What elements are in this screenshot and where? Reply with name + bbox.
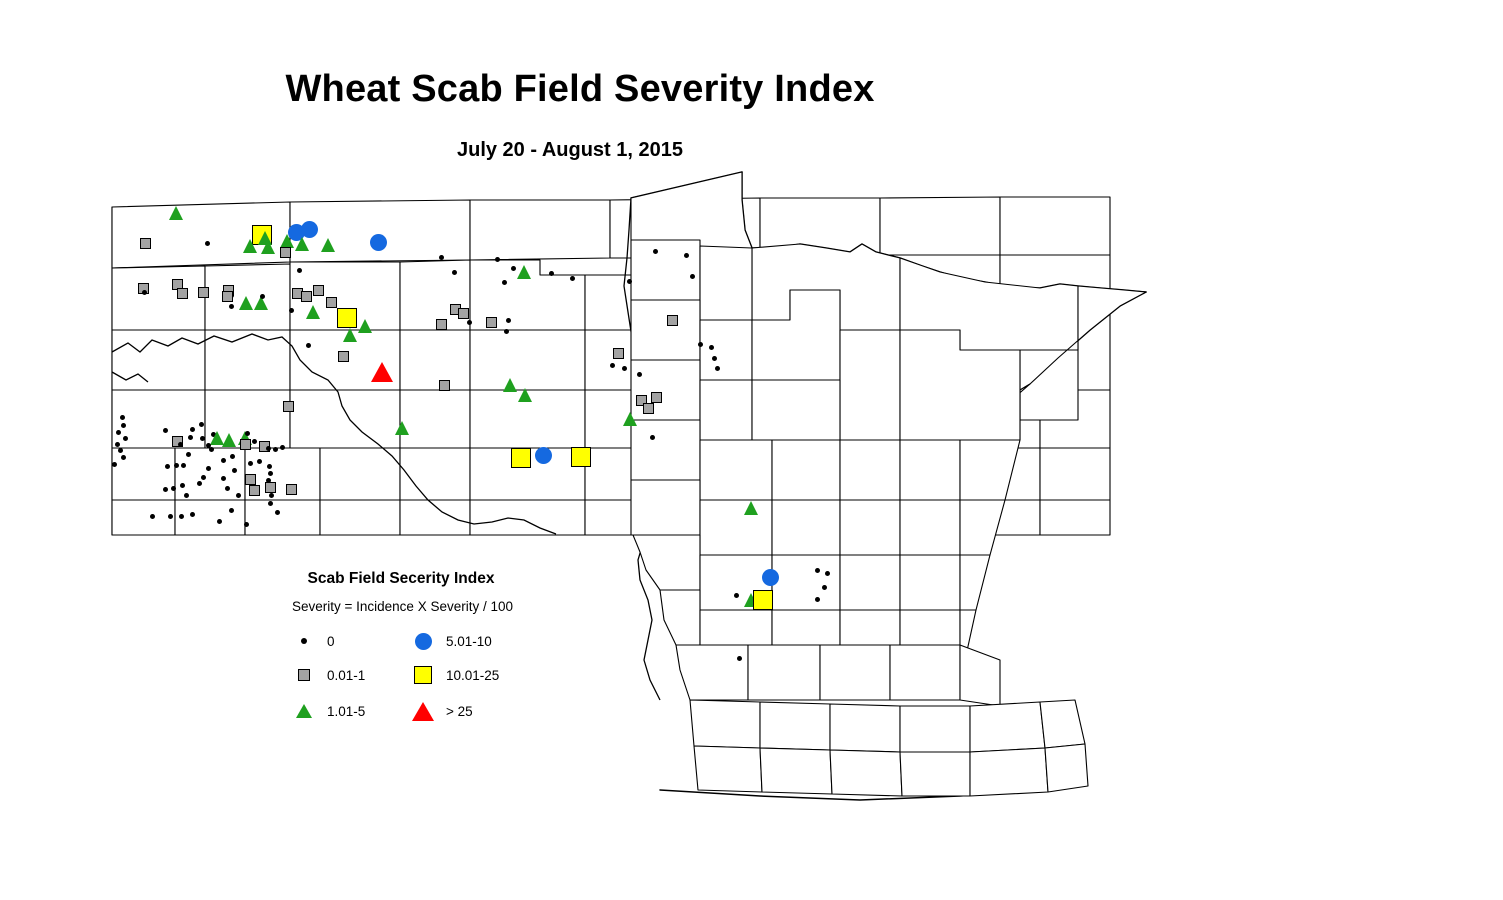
severity-point-square-large: [753, 590, 773, 610]
severity-point-dot: [184, 493, 189, 498]
severity-point-dot: [506, 318, 511, 323]
severity-point-triangle: [395, 421, 409, 435]
severity-point-dot: [115, 442, 120, 447]
severity-point-dot: [822, 585, 827, 590]
severity-point-triangle: [306, 305, 320, 319]
severity-point-dot: [504, 329, 509, 334]
severity-point-square: [265, 482, 276, 493]
legend-entry-3: 5.01-10: [410, 628, 492, 654]
severity-point-dot: [257, 459, 262, 464]
severity-point-dot: [275, 510, 280, 515]
severity-point-dot: [206, 466, 211, 471]
severity-point-triangle: [503, 378, 517, 392]
severity-point-dot: [260, 294, 265, 299]
severity-point-dot: [289, 308, 294, 313]
legend-label-0: 0: [327, 634, 335, 649]
severity-point-triangle: [169, 206, 183, 220]
severity-point-dot: [217, 519, 222, 524]
severity-point-dot: [188, 435, 193, 440]
legend: Scab Field Secerity Index Severity = Inc…: [285, 570, 525, 725]
severity-point-triangle: [258, 231, 272, 245]
legend-entry-2: 1.01-5: [291, 698, 365, 724]
severity-point-triangle: [623, 412, 637, 426]
severity-point-dot: [236, 493, 241, 498]
severity-point-triangle: [343, 328, 357, 342]
severity-point-square: [198, 287, 209, 298]
severity-point-dot: [201, 475, 206, 480]
severity-point-dot: [712, 356, 717, 361]
severity-point-square: [439, 380, 450, 391]
severity-point-dot: [174, 463, 179, 468]
severity-point-triangle: [239, 296, 253, 310]
severity-point-dot: [221, 476, 226, 481]
severity-point-square: [651, 392, 662, 403]
severity-point-dot: [610, 363, 615, 368]
severity-point-dot: [232, 468, 237, 473]
severity-point-dot: [165, 464, 170, 469]
severity-point-dot: [163, 428, 168, 433]
severity-point-dot: [684, 253, 689, 258]
severity-point-dot: [197, 481, 202, 486]
severity-point-dot: [268, 501, 273, 506]
severity-point-triangle: [295, 237, 309, 251]
severity-point-dot: [627, 279, 632, 284]
severity-point-dot: [815, 597, 820, 602]
severity-point-dot: [199, 422, 204, 427]
severity-point-dot: [181, 463, 186, 468]
severity-point-square: [222, 291, 233, 302]
severity-point-dot: [715, 366, 720, 371]
severity-point-square-large: [511, 448, 531, 468]
severity-point-dot: [734, 593, 739, 598]
severity-point-square: [301, 291, 312, 302]
severity-point-dot: [121, 423, 126, 428]
severity-point-square-large: [337, 308, 357, 328]
severity-point-square: [326, 297, 337, 308]
map-figure: Wheat Scab Field Severity Index July 20 …: [0, 0, 1503, 900]
severity-point-dot: [268, 471, 273, 476]
severity-point-square: [667, 315, 678, 326]
severity-point-dot: [439, 255, 444, 260]
severity-point-square: [245, 474, 256, 485]
severity-point-dot: [123, 436, 128, 441]
severity-point-circle: [370, 234, 387, 251]
severity-point-dot: [452, 270, 457, 275]
legend-label-5: > 25: [446, 704, 473, 719]
severity-point-dot: [180, 483, 185, 488]
severity-point-dot: [179, 514, 184, 519]
severity-point-dot: [150, 514, 155, 519]
severity-point-triangle: [321, 238, 335, 252]
severity-point-dot: [467, 320, 472, 325]
severity-point-triangle-lg: [371, 362, 393, 382]
severity-point-triangle: [744, 501, 758, 515]
severity-point-dot: [269, 493, 274, 498]
map-canvas: [0, 0, 1503, 900]
severity-point-dot: [549, 271, 554, 276]
states-map-svg: [0, 0, 1503, 900]
severity-point-dot: [653, 249, 658, 254]
severity-point-triangle: [222, 433, 236, 447]
severity-point-square: [458, 308, 469, 319]
severity-point-dot: [815, 568, 820, 573]
severity-point-dot: [502, 280, 507, 285]
severity-point-dot: [825, 571, 830, 576]
legend-formula: Severity = Incidence X Severity / 100: [285, 599, 520, 614]
severity-point-square: [177, 288, 188, 299]
severity-point-dot: [698, 342, 703, 347]
severity-point-dot: [637, 372, 642, 377]
legend-entry-0: 0: [291, 628, 335, 654]
severity-point-dot: [570, 276, 575, 281]
gray-square-marker-icon: [291, 669, 317, 681]
severity-point-dot: [244, 522, 249, 527]
legend-entry-5: > 25: [410, 698, 473, 724]
severity-point-dot: [495, 257, 500, 262]
severity-point-dot: [266, 446, 271, 451]
severity-point-dot: [221, 458, 226, 463]
severity-point-dot: [142, 290, 147, 295]
severity-point-dot: [511, 266, 516, 271]
severity-point-square: [338, 351, 349, 362]
severity-point-dot: [273, 447, 278, 452]
severity-point-dot: [650, 435, 655, 440]
yellow-square-marker-icon: [410, 666, 436, 684]
severity-point-dot: [252, 439, 257, 444]
severity-point-square: [643, 403, 654, 414]
severity-point-square-large: [571, 447, 591, 467]
severity-point-dot: [737, 656, 742, 661]
severity-point-dot: [280, 445, 285, 450]
severity-point-dot: [306, 343, 311, 348]
legend-label-3: 5.01-10: [446, 634, 492, 649]
severity-point-triangle: [243, 239, 257, 253]
severity-point-dot: [225, 486, 230, 491]
blue-circle-marker-icon: [410, 633, 436, 650]
severity-point-dot: [200, 436, 205, 441]
legend-label-4: 10.01-25: [446, 668, 499, 683]
severity-point-dot: [168, 514, 173, 519]
legend-title: Scab Field Secerity Index: [285, 570, 517, 588]
severity-point-dot: [163, 487, 168, 492]
severity-point-circle: [762, 569, 779, 586]
legend-label-2: 1.01-5: [327, 704, 365, 719]
severity-point-dot: [118, 448, 123, 453]
severity-point-triangle: [518, 388, 532, 402]
severity-point-dot: [186, 452, 191, 457]
severity-point-dot: [171, 486, 176, 491]
severity-point-dot: [116, 430, 121, 435]
severity-point-dot: [205, 241, 210, 246]
severity-point-dot: [267, 464, 272, 469]
severity-point-square: [486, 317, 497, 328]
severity-point-square: [249, 485, 260, 496]
severity-point-square: [283, 401, 294, 412]
severity-point-circle: [535, 447, 552, 464]
severity-point-square: [280, 247, 291, 258]
severity-point-square: [613, 348, 624, 359]
dot-marker-icon: [291, 638, 317, 644]
severity-point-square: [240, 439, 251, 450]
severity-point-triangle: [517, 265, 531, 279]
red-triangle-marker-icon: [410, 702, 436, 721]
severity-point-circle: [301, 221, 318, 238]
severity-point-dot: [248, 461, 253, 466]
severity-point-square: [313, 285, 324, 296]
severity-point-dot: [297, 268, 302, 273]
severity-point-triangle: [358, 319, 372, 333]
legend-label-1: 0.01-1: [327, 668, 365, 683]
severity-point-dot: [229, 304, 234, 309]
severity-point-square: [140, 238, 151, 249]
severity-point-dot: [190, 427, 195, 432]
legend-entry-1: 0.01-1: [291, 662, 365, 688]
severity-point-dot: [112, 462, 117, 467]
severity-point-dot: [120, 415, 125, 420]
severity-point-dot: [230, 454, 235, 459]
severity-point-dot: [245, 431, 250, 436]
legend-entry-4: 10.01-25: [410, 662, 499, 688]
severity-point-dot: [690, 274, 695, 279]
severity-point-square: [436, 319, 447, 330]
severity-point-dot: [709, 345, 714, 350]
severity-point-dot: [229, 508, 234, 513]
severity-point-dot: [622, 366, 627, 371]
severity-point-dot: [121, 455, 126, 460]
severity-point-square: [286, 484, 297, 495]
severity-point-dot: [178, 442, 183, 447]
green-triangle-marker-icon: [291, 704, 317, 718]
severity-point-dot: [190, 512, 195, 517]
severity-point-dot: [209, 447, 214, 452]
